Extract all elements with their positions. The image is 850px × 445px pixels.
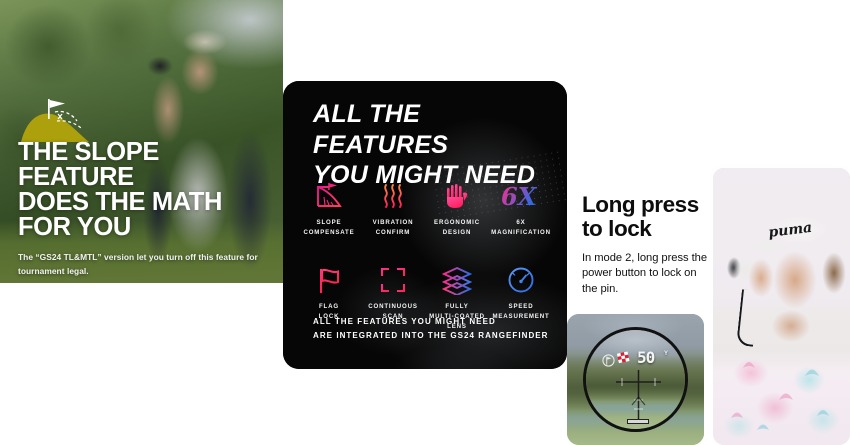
battery-indicator-icon (627, 419, 649, 424)
hero-text-block: THE SLOPE FEATURE DOES THE MATH FOR YOU … (18, 140, 276, 278)
feature-six-x-magnification: 6X 6X MAGNIFICATION (489, 177, 553, 237)
hero-title-line-3: FOR YOU (18, 215, 276, 240)
lock-title-line-2: to lock (582, 217, 712, 241)
feature-label: SLOPE COMPENSATE (303, 218, 354, 237)
hero-title-line-1: THE SLOPE FEATURE (18, 140, 276, 190)
features-card-footer: ALL THE FEATURES YOU MIGHT NEED ARE INTE… (313, 315, 549, 343)
six-x-magnification-icon: 6X (500, 177, 542, 211)
golfer-using-rangefinder-photo: puma (713, 168, 850, 445)
features-footer-line-1: ALL THE FEATURES YOU MIGHT NEED (313, 315, 549, 329)
feature-vibration-confirm: VIBRATION CONFIRM (361, 177, 425, 237)
cap-logo-text: puma (765, 218, 825, 246)
feature-slope-compensate: SLOPE COMPENSATE (297, 177, 361, 237)
hero-title-line-2: DOES THE MATH (18, 190, 276, 215)
lock-section-body: In mode 2, long press the power button t… (582, 251, 712, 298)
svg-text:puma: puma (768, 220, 813, 241)
features-icon-grid: SLOPE COMPENSATE (297, 177, 553, 331)
ergonomic-design-hand-icon (442, 177, 472, 211)
six-x-glyph: 6X (501, 182, 538, 211)
long-press-to-lock-section: Long press to lock In mode 2, long press… (582, 193, 712, 297)
features-footer-line-2: ARE INTEGRATED INTO THE GS24 RANGEFINDER (313, 329, 549, 343)
hero-title: THE SLOPE FEATURE DOES THE MATH FOR YOU (18, 140, 276, 240)
floral-shirt-pattern (713, 168, 850, 445)
flag-lock-icon (314, 261, 344, 295)
hero-subtitle: The “GS24 TL&MTL” version let you turn o… (18, 251, 258, 278)
crosshair-reticle-icon (586, 330, 688, 432)
continuous-scan-icon (378, 261, 408, 295)
viewfinder-preview-card: 50 Y (567, 314, 704, 445)
feature-label: ERGONOMIC DESIGN (434, 218, 480, 237)
speed-measurement-gauge-icon (506, 261, 536, 295)
feature-ergonomic-design: ERGONOMIC DESIGN (425, 177, 489, 237)
features-row-1: SLOPE COMPENSATE (297, 177, 553, 237)
feature-label: 6X MAGNIFICATION (491, 218, 551, 237)
fully-multi-coated-lens-icon (440, 261, 474, 295)
vibration-confirm-icon (378, 177, 408, 211)
viewfinder-circle: 50 Y (583, 327, 688, 432)
features-title-line-1: ALL THE FEATURES (313, 99, 543, 160)
slope-compensate-icon (314, 177, 344, 211)
feature-label: VIBRATION CONFIRM (373, 218, 414, 237)
lock-section-title: Long press to lock (582, 193, 712, 241)
all-features-card: ALL THE FEATURES YOU MIGHT NEED (283, 81, 567, 369)
lock-title-line-1: Long press (582, 193, 712, 217)
slope-feature-hero-panel: THE SLOPE FEATURE DOES THE MATH FOR YOU … (0, 0, 283, 283)
